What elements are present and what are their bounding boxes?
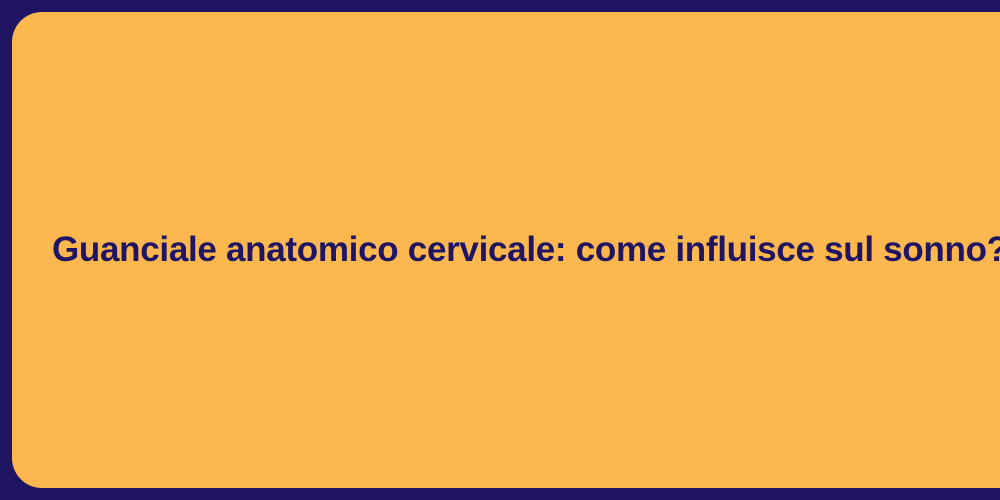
page-title: Guanciale anatomico cervicale: come infl… <box>52 228 1000 272</box>
page-frame: Guanciale anatomico cervicale: come infl… <box>0 0 1000 500</box>
hero-card: Guanciale anatomico cervicale: come infl… <box>12 12 1000 488</box>
